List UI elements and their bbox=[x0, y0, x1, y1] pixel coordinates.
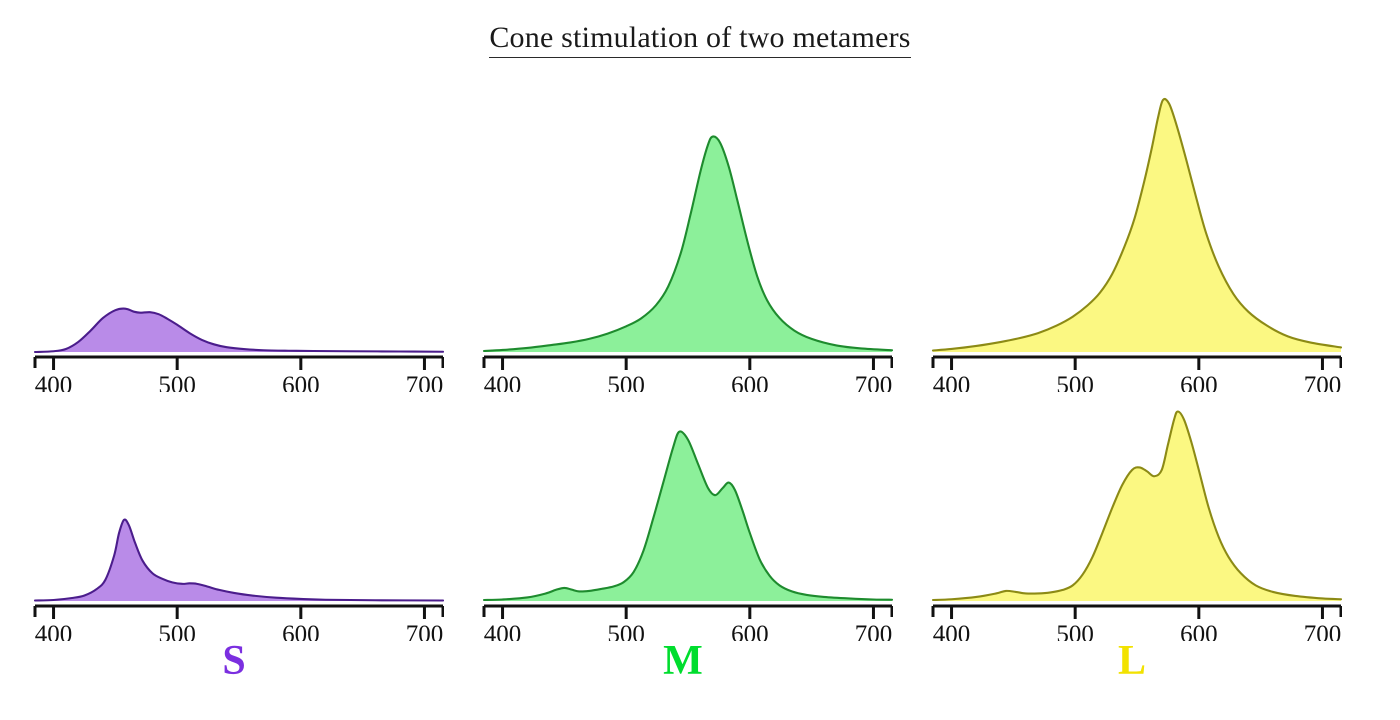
cone-label-m-text: M bbox=[663, 638, 703, 684]
x-tick-label-600: 600 bbox=[282, 621, 320, 641]
curve-fill-m bbox=[484, 136, 892, 352]
page-title: Cone stimulation of two metamers bbox=[489, 22, 910, 58]
curve-line-s bbox=[35, 520, 443, 601]
panel-m-metamer-2: 400500600700 bbox=[473, 341, 893, 641]
x-tick-label-700: 700 bbox=[406, 621, 444, 641]
cone-label-s: S bbox=[24, 640, 444, 682]
figure-canvas: Cone stimulation of two metamers 4005006… bbox=[0, 0, 1400, 720]
x-tick-label-600: 600 bbox=[1180, 621, 1218, 641]
x-tick-label-400: 400 bbox=[933, 621, 971, 641]
curve-fill-l bbox=[933, 99, 1341, 352]
x-tick-label-700: 700 bbox=[855, 621, 893, 641]
x-tick-label-400: 400 bbox=[35, 621, 73, 641]
curve-fill-m bbox=[484, 431, 892, 601]
x-tick-label-500: 500 bbox=[1056, 621, 1094, 641]
cone-label-m: M bbox=[473, 640, 893, 682]
spectrum-plot-s: 400500600700 bbox=[24, 341, 444, 641]
spectrum-plot-l: 400500600700 bbox=[922, 341, 1342, 641]
panel-s-metamer-2: 400500600700 bbox=[24, 341, 444, 641]
x-tick-label-700: 700 bbox=[1304, 621, 1342, 641]
spectrum-plot-m: 400500600700 bbox=[473, 341, 893, 641]
x-tick-label-500: 500 bbox=[607, 621, 645, 641]
x-tick-label-400: 400 bbox=[484, 621, 522, 641]
cone-label-l-text: L bbox=[1118, 638, 1146, 684]
figure-title-container: Cone stimulation of two metamers bbox=[0, 22, 1400, 58]
panel-l-metamer-2: 400500600700 bbox=[922, 341, 1342, 641]
curve-fill-l bbox=[933, 412, 1341, 602]
x-tick-label-600: 600 bbox=[731, 621, 769, 641]
x-tick-label-500: 500 bbox=[158, 621, 196, 641]
cone-label-s-text: S bbox=[222, 638, 245, 684]
cone-label-l: L bbox=[922, 640, 1342, 682]
